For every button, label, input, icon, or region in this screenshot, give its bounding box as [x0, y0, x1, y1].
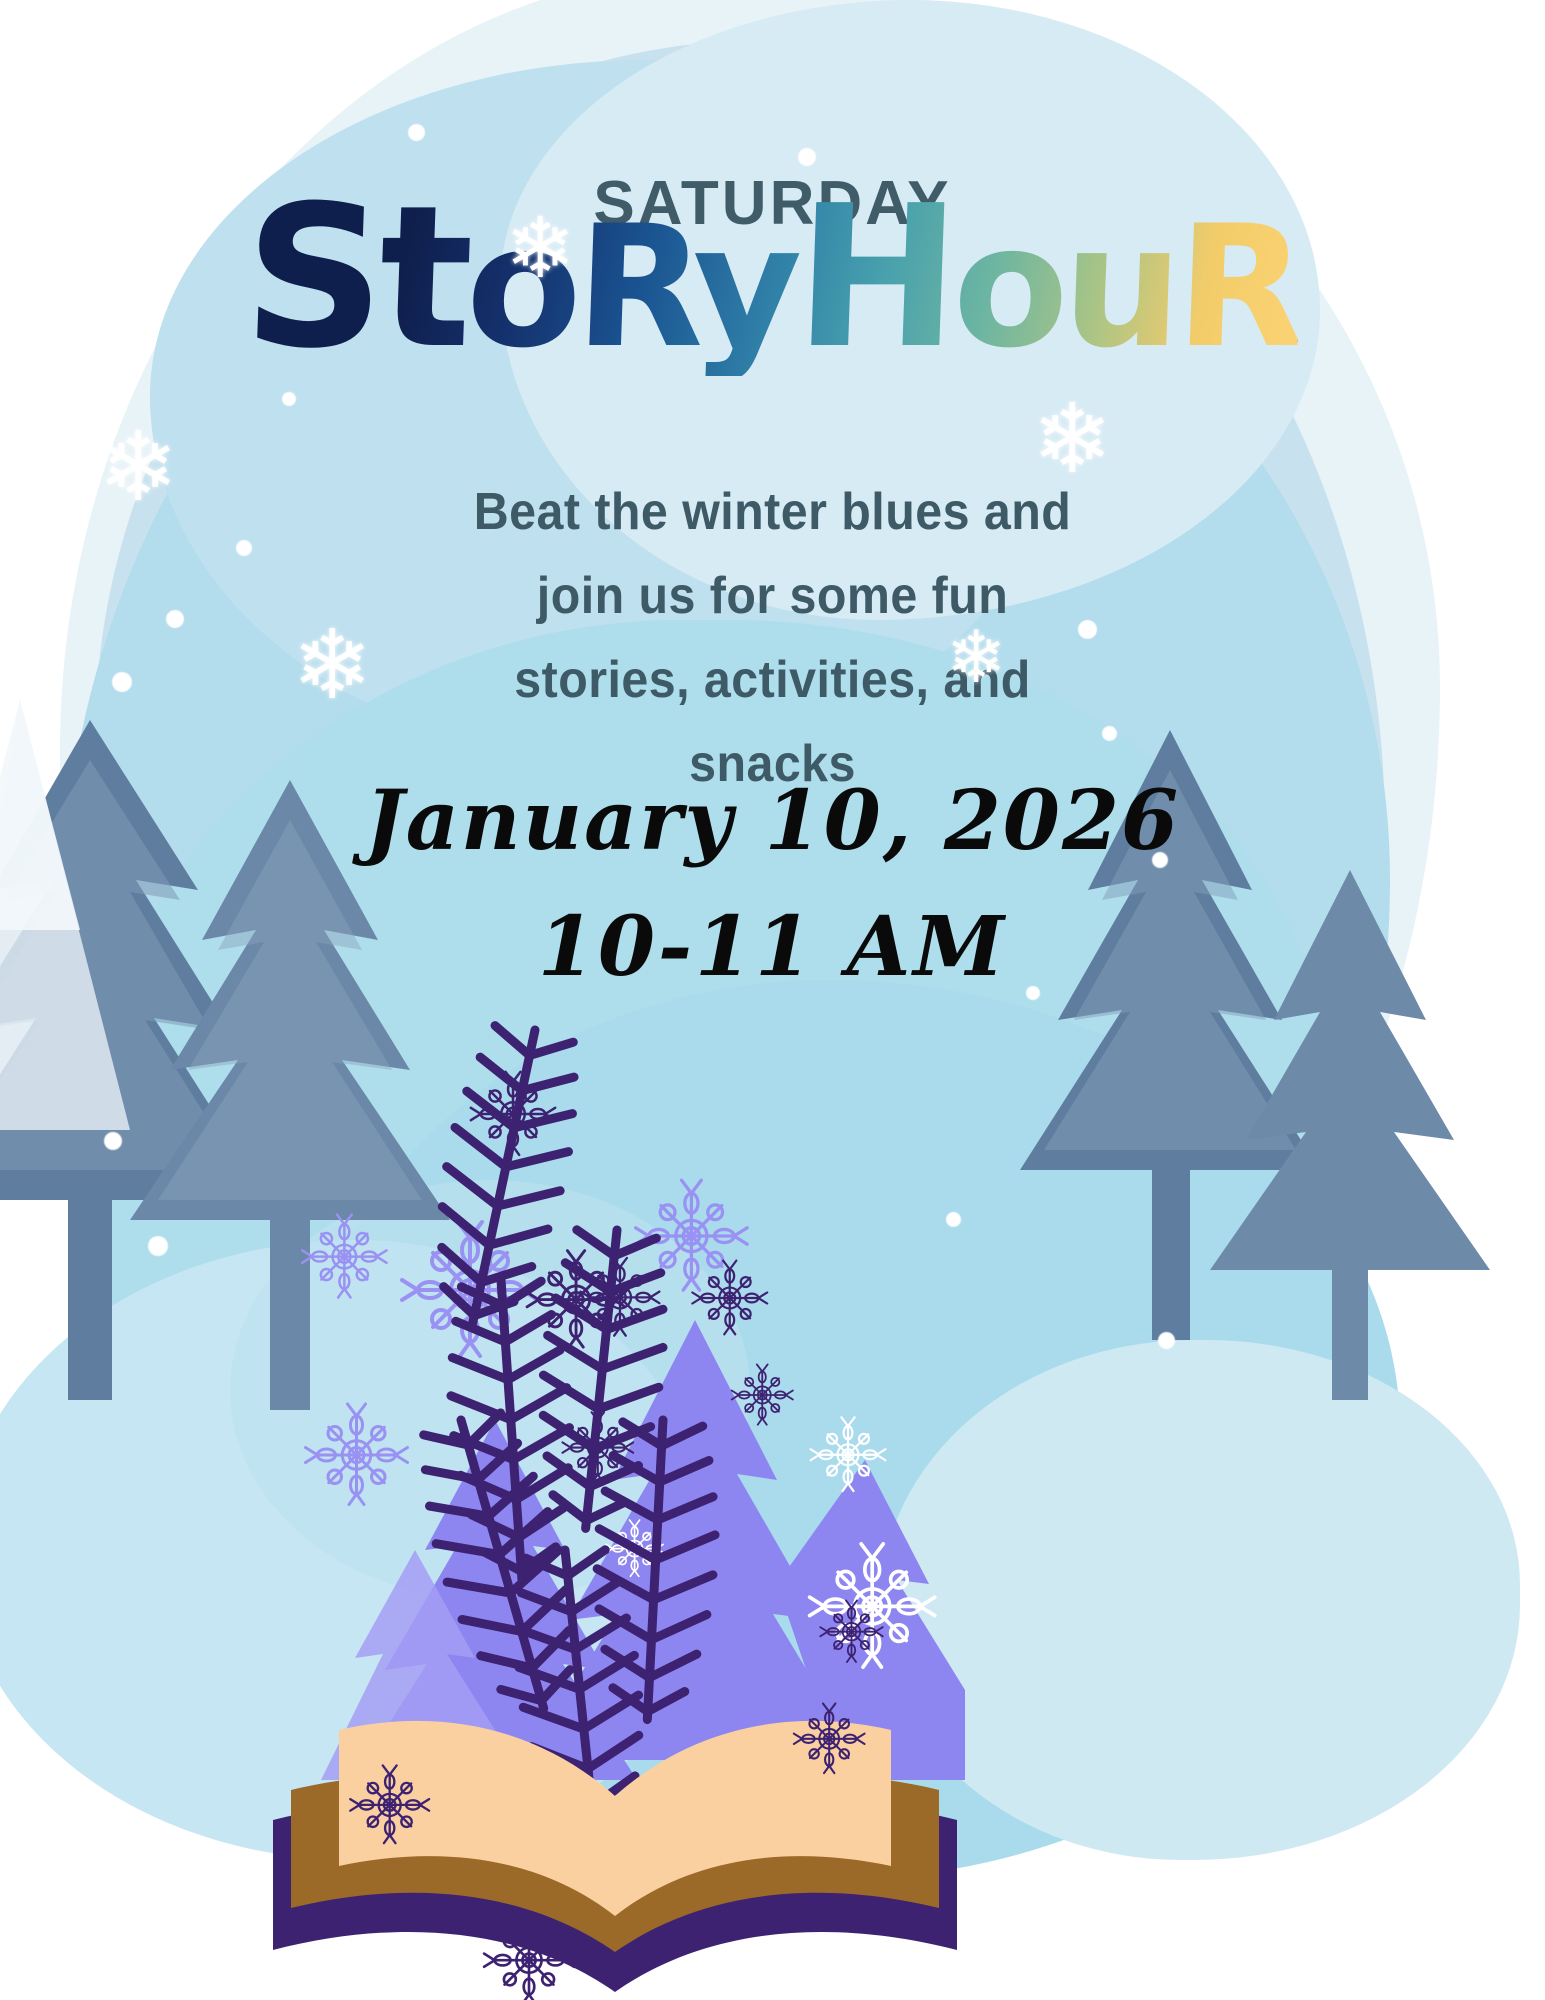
event-time: 10-11 AM	[0, 906, 1545, 988]
snow-dot	[282, 392, 296, 406]
winter-story-hour-flyer: ❄ ❄ ❄ ❄ ❄ SATURDAY StoRyHouR Beat the wi…	[0, 0, 1545, 2000]
snow-dot	[798, 148, 816, 166]
snow-dot	[148, 1236, 168, 1256]
body-copy: Beat the winter blues and join us for so…	[54, 470, 1491, 806]
body-line-3: stories, activities, and	[54, 638, 1491, 722]
kicker-saturday: SATURDAY	[0, 168, 1545, 239]
body-line-1: Beat the winter blues and	[54, 470, 1491, 554]
event-date-time: January 10, 2026 10-11 AM	[0, 780, 1545, 988]
body-line-2: join us for some fun	[54, 554, 1491, 638]
snow-dot	[408, 124, 425, 141]
event-date: January 10, 2026	[0, 780, 1545, 862]
open-book-illustration	[265, 990, 965, 2000]
snow-dot	[1158, 1332, 1175, 1349]
snow-dot	[104, 1132, 122, 1150]
watercolor-wash-bottom-right	[880, 1340, 1520, 1860]
snow-dot	[1026, 986, 1040, 1000]
